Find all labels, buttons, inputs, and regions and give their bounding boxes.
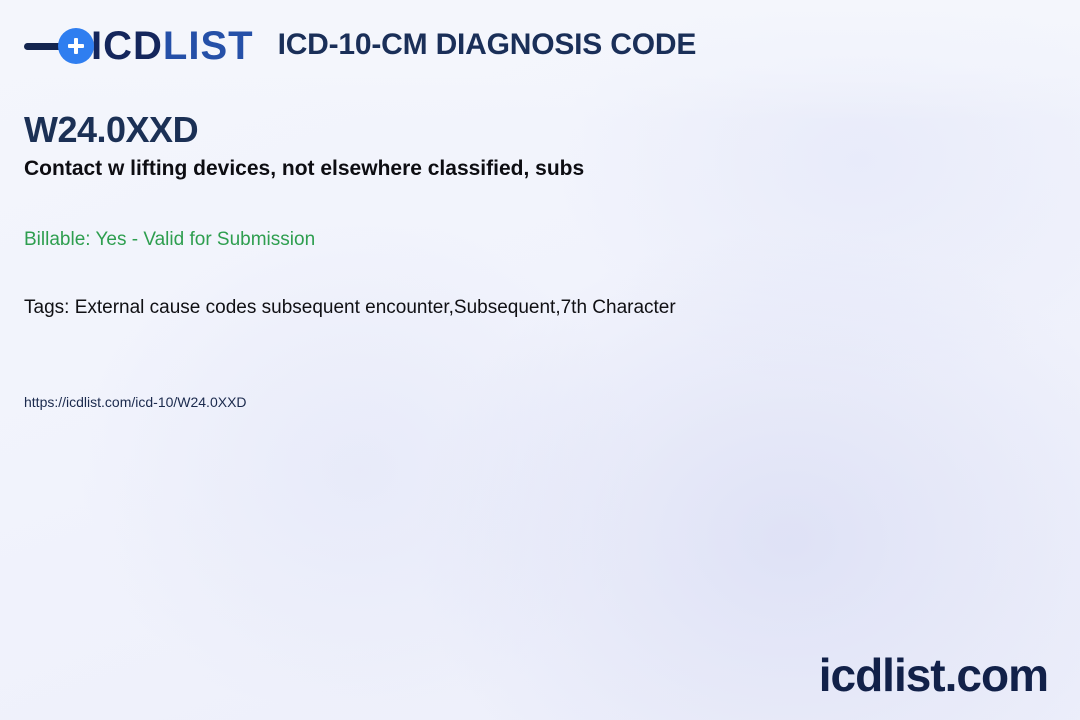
- logo-text-list: LIST: [163, 24, 254, 68]
- logo-text-icd: ICD: [91, 24, 163, 68]
- code-tags: Tags: External cause codes subsequent en…: [24, 296, 1056, 321]
- code-details: W24.0XXD Contact w lifting devices, not …: [24, 108, 1056, 411]
- icd-code-card: ICDLIST ICD-10-CM DIAGNOSIS CODE W24.0XX…: [0, 0, 1080, 720]
- page-title: ICD-10-CM DIAGNOSIS CODE: [278, 30, 697, 62]
- site-watermark: icdlist.com: [819, 652, 1048, 698]
- source-url[interactable]: https://icdlist.com/icd-10/W24.0XXD: [24, 393, 1056, 411]
- large-paper-heart-shape: [648, 475, 800, 620]
- code-description: Contact w lifting devices, not elsewhere…: [24, 155, 1056, 182]
- page-header: ICDLIST ICD-10-CM DIAGNOSIS CODE: [24, 26, 696, 66]
- dash-icon: [24, 43, 62, 50]
- logo-wordmark: ICDLIST: [91, 26, 254, 66]
- icdlist-logo[interactable]: ICDLIST: [24, 26, 254, 66]
- plus-circle-icon: [58, 28, 94, 64]
- billable-status: Billable: Yes - Valid for Submission: [24, 228, 1056, 253]
- diagnosis-code: W24.0XXD: [24, 108, 1056, 151]
